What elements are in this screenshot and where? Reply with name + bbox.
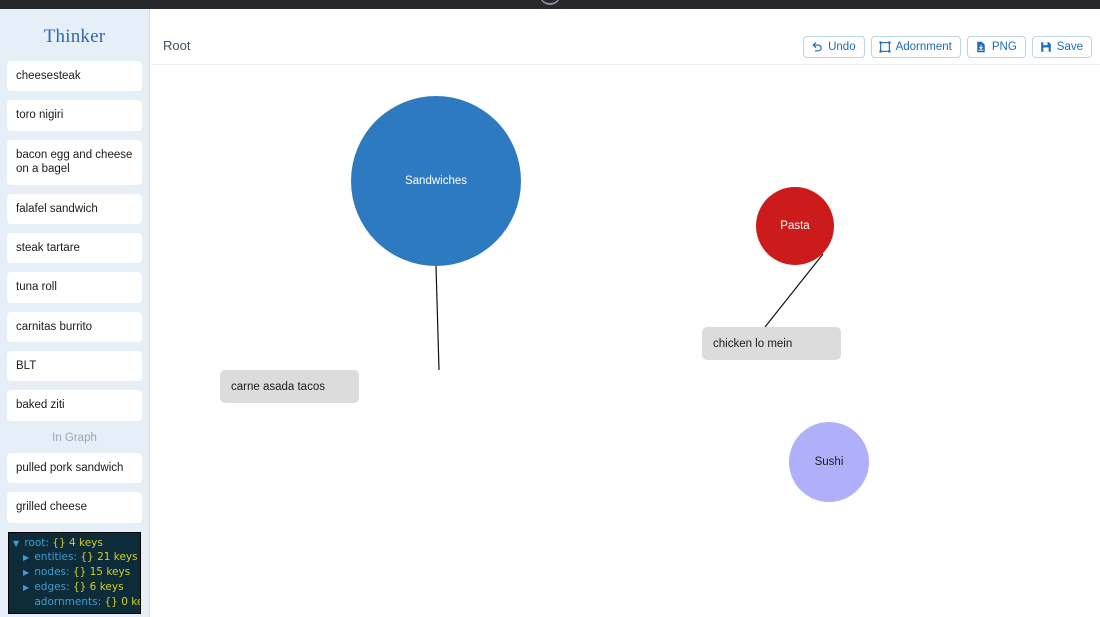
undo-icon	[811, 41, 823, 53]
list-item[interactable]: baked ziti	[7, 390, 142, 420]
top-toolbar: Root Undo	[151, 9, 1100, 65]
json-key: root:	[24, 537, 49, 549]
json-key: nodes:	[34, 566, 69, 578]
undo-button[interactable]: Undo	[803, 36, 865, 58]
triangle-right-icon[interactable]: ▶	[23, 567, 31, 578]
suggestion-list: cheesesteak toro nigiri bacon egg and ch…	[0, 61, 149, 421]
graph-node-chicken-lo-mein[interactable]: chicken lo mein	[702, 327, 841, 360]
graph-edges	[151, 66, 1100, 617]
json-brace: {}	[52, 537, 65, 549]
list-item[interactable]: bacon egg and cheese on a bagel	[7, 140, 142, 185]
camera-notch-icon	[539, 0, 561, 5]
list-item[interactable]: toro nigiri	[7, 100, 142, 130]
save-button[interactable]: Save	[1032, 36, 1092, 58]
browser-chrome-bar	[0, 0, 1100, 9]
json-brace: {}	[73, 566, 86, 578]
triangle-right-icon[interactable]: ▶	[23, 582, 31, 593]
graph-node-label: Sandwiches	[405, 175, 467, 187]
adornment-label: Adornment	[896, 41, 952, 53]
json-row-nodes[interactable]: ▶ nodes: {} 15 keys	[11, 565, 138, 580]
in-graph-list: pulled pork sandwich grilled cheese	[0, 453, 149, 523]
toolbar-actions: Undo Adornment	[803, 36, 1092, 58]
undo-label: Undo	[828, 41, 856, 53]
adornment-button[interactable]: Adornment	[871, 36, 961, 58]
png-download-icon	[975, 41, 987, 53]
list-item[interactable]: BLT	[7, 351, 142, 381]
graph-node-label: Sushi	[815, 456, 844, 468]
list-item[interactable]: grilled cheese	[7, 492, 142, 522]
floppy-disk-icon	[1040, 41, 1052, 53]
edge-sandwiches-carne-asada-tacos	[436, 266, 439, 370]
list-item[interactable]: pulled pork sandwich	[7, 453, 142, 483]
json-row-edges[interactable]: ▶ edges: {} 6 keys	[11, 580, 138, 595]
breadcrumb[interactable]: Root	[163, 38, 190, 53]
json-brace: {}	[104, 596, 117, 608]
save-label: Save	[1057, 41, 1083, 53]
triangle-right-icon[interactable]: ▶	[23, 552, 31, 563]
graph-node-label: chicken lo mein	[713, 338, 792, 350]
graph-node-label: carne asada tacos	[231, 381, 325, 393]
list-item[interactable]: cheesesteak	[7, 61, 142, 91]
list-item[interactable]: tuna roll	[7, 272, 142, 302]
list-item[interactable]: steak tartare	[7, 233, 142, 263]
json-count: 6 keys	[90, 581, 124, 593]
graph-node-sushi[interactable]: Sushi	[789, 422, 869, 502]
graph-node-pasta[interactable]: Pasta	[756, 187, 834, 265]
sidebar: Thinker cheesesteak toro nigiri bacon eg…	[0, 9, 150, 617]
json-key: edges:	[34, 581, 69, 593]
json-row-adornments[interactable]: adornments: {} 0 keys	[11, 595, 138, 610]
json-key: entities:	[34, 551, 77, 563]
graph-node-carne-asada-tacos[interactable]: carne asada tacos	[220, 370, 359, 403]
json-debug-tree[interactable]: ▼ root: {} 4 keys ▶ entities: {} 21 keys…	[8, 532, 141, 615]
main-panel: Root Undo	[151, 9, 1100, 617]
json-brace: {}	[80, 551, 93, 563]
json-count: 0 keys	[121, 596, 141, 608]
triangle-down-icon[interactable]: ▼	[13, 538, 21, 549]
png-export-button[interactable]: PNG	[967, 36, 1026, 58]
json-count: 21 keys	[97, 551, 138, 563]
json-row-entities[interactable]: ▶ entities: {} 21 keys	[11, 550, 138, 565]
graph-canvas[interactable]: Sandwiches Pasta Sushi carne asada tacos…	[151, 66, 1100, 617]
json-row-root[interactable]: ▼ root: {} 4 keys	[11, 536, 138, 551]
app-root: Thinker cheesesteak toro nigiri bacon eg…	[0, 0, 1100, 617]
json-count: 4 keys	[69, 537, 103, 549]
graph-node-label: Pasta	[780, 220, 809, 232]
in-graph-section-label: In Graph	[0, 430, 149, 453]
app-brand-title: Thinker	[0, 9, 149, 61]
list-item[interactable]: carnitas burrito	[7, 312, 142, 342]
json-key: adornments:	[34, 596, 101, 608]
json-brace: {}	[73, 581, 86, 593]
list-item[interactable]: falafel sandwich	[7, 194, 142, 224]
json-count: 15 keys	[90, 566, 131, 578]
adornment-frame-icon	[879, 41, 891, 53]
png-label: PNG	[992, 41, 1017, 53]
graph-node-sandwiches[interactable]: Sandwiches	[351, 96, 521, 266]
